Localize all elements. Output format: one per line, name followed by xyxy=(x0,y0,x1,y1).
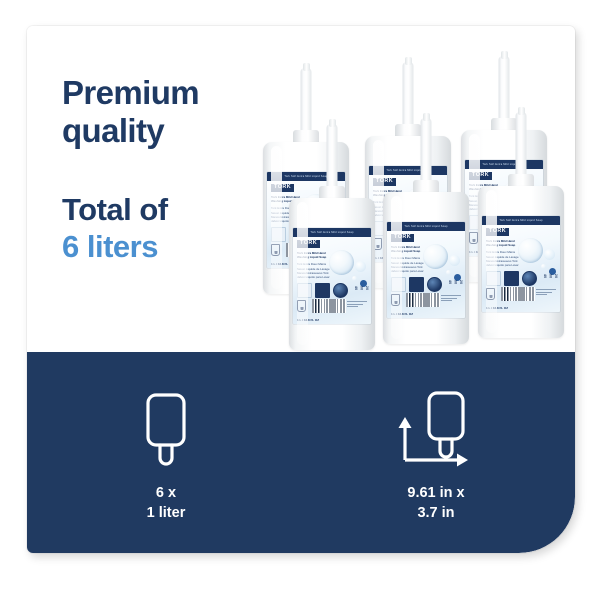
total-of-label: Total of xyxy=(62,192,168,227)
bottle-nozzle-icon xyxy=(499,56,510,122)
label-fineprint xyxy=(441,295,461,303)
size-code-column: 40 60 20 xyxy=(543,274,558,278)
label-header-band: Tork Soft Extra Mild Liquid Soap xyxy=(465,160,543,169)
label-volume: 1 L / 33.8 FL OZ xyxy=(391,312,413,316)
tork-logo: TORK xyxy=(486,228,509,236)
size-code-column: 40 60 20 xyxy=(448,280,463,284)
size-code: 20 xyxy=(365,286,369,290)
soap-bubble-icon xyxy=(329,250,354,275)
tork-logo: TORK xyxy=(297,240,320,248)
headline-line-1: Premium xyxy=(62,74,199,111)
label-fineprint xyxy=(347,301,367,309)
label-header-band: Tork Soft Extra Mild Liquid Soap xyxy=(369,166,447,175)
bottle-nozzle-icon xyxy=(403,62,414,128)
size-code: 40 xyxy=(354,286,358,290)
label-desc-line-4: Jabon Liquido para Lavar xyxy=(391,269,431,273)
label-volume: 1 L / 33.8 FL OZ xyxy=(486,306,508,310)
soap-droplet-icon xyxy=(352,276,357,281)
size-code: 60 xyxy=(454,280,458,284)
spec-quantity-label: 6 x 1 liter xyxy=(147,484,186,523)
size-code: 60 xyxy=(549,274,553,278)
spec-dimensions-line-1: 9.61 in x xyxy=(407,484,464,504)
size-code: 60 xyxy=(360,286,364,290)
tork-logo: TORK xyxy=(391,234,414,242)
bottle-body: Tork Soft Extra Mild Liquid Soap TORK To… xyxy=(383,192,469,344)
dispenser-icon xyxy=(297,300,306,312)
label-band-text: Tork Soft Extra Mild Liquid Soap xyxy=(499,219,542,222)
bottle-nozzle-icon xyxy=(327,124,338,190)
bottle-nozzle-icon xyxy=(516,112,527,178)
product-label: Tork Soft Extra Mild Liquid Soap TORK To… xyxy=(387,222,465,318)
total-volume-heading: Total of 6 liters xyxy=(62,191,277,265)
size-code: 20 xyxy=(554,274,558,278)
label-footer: 1 L / 33.8 FL OZ xyxy=(482,284,560,312)
card-top-section: Premium quality Total of 6 liters xyxy=(27,26,575,352)
spec-dimensions: 9.61 in x 3.7 in xyxy=(361,388,511,553)
label-footer: 1 L / 33.8 FL OZ xyxy=(387,290,465,318)
soap-bubble-icon xyxy=(518,238,543,263)
infographic-canvas: Premium quality Total of 6 liters xyxy=(0,0,600,600)
soap-bubble-icon xyxy=(423,244,448,269)
headline-block: Premium quality Total of 6 liters xyxy=(62,74,277,265)
label-band-text: Tork Soft Extra Mild Liquid Soap xyxy=(310,231,353,234)
total-liters-value: 6 liters xyxy=(62,228,277,265)
spec-quantity-art xyxy=(139,388,193,470)
size-code: 20 xyxy=(459,280,463,284)
tork-logo: TORK xyxy=(271,184,294,192)
bottle-nozzle-icon xyxy=(421,118,432,184)
product-label: Tork Soft Extra Mild Liquid Soap TORK To… xyxy=(482,216,560,312)
label-desc-line-4: Jabon Liquido para Lavar xyxy=(297,275,337,279)
label-header-band: Tork Soft Extra Mild Liquid Soap xyxy=(293,228,371,237)
soap-bubble-small-icon xyxy=(449,255,460,266)
bottle-body: Tork Soft Extra Mild Liquid Soap TORK To… xyxy=(478,186,564,338)
label-volume: 1 L / 33.8 FL OZ xyxy=(297,318,319,322)
barcode xyxy=(406,293,440,307)
dispenser-icon xyxy=(391,294,400,306)
tork-logo: TORK xyxy=(373,178,396,186)
label-band-text: Tork Soft Extra Mild Liquid Soap xyxy=(284,175,327,178)
spec-dimensions-label: 9.61 in x 3.7 in xyxy=(407,484,464,523)
size-code-column: 40 60 20 xyxy=(354,286,369,290)
label-header-band: Tork Soft Extra Mild Liquid Soap xyxy=(482,216,560,225)
label-desc-line-4: Jabon Liquido para Lavar xyxy=(486,263,526,267)
soap-bubble-small-icon xyxy=(355,261,366,272)
spec-quantity-line-2: 1 liter xyxy=(147,504,186,524)
bottle-nozzle-icon xyxy=(301,68,312,134)
tork-logo: TORK xyxy=(469,172,492,180)
bottle-icon xyxy=(139,392,193,470)
product-bottle-group: Tork Soft Extra Mild Liquid Soap TORK To… xyxy=(249,34,569,344)
product-label: Tork Soft Extra Mild Liquid Soap TORK To… xyxy=(293,228,371,324)
soap-droplet-icon xyxy=(541,264,546,269)
barcode xyxy=(312,299,346,313)
label-header-band: Tork Soft Extra Mild Liquid Soap xyxy=(387,222,465,231)
spec-dimensions-art xyxy=(393,388,479,470)
size-code: 40 xyxy=(448,280,452,284)
dispenser-icon xyxy=(271,244,280,256)
headline-line-2: quality xyxy=(62,112,164,149)
size-code: 40 xyxy=(543,274,547,278)
specs-row: 6 x 1 liter xyxy=(27,352,575,553)
product-info-card: Premium quality Total of 6 liters xyxy=(27,26,575,553)
soap-bubble-small-icon xyxy=(544,249,555,260)
spec-quantity-line-1: 6 x xyxy=(147,484,186,504)
barcode xyxy=(501,287,535,301)
spec-quantity: 6 x 1 liter xyxy=(91,388,241,553)
dispenser-icon xyxy=(486,288,495,300)
label-footer: 1 L / 33.8 FL OZ xyxy=(293,296,371,324)
bottle-body: Tork Soft Extra Mild Liquid Soap TORK To… xyxy=(289,198,375,350)
spec-dimensions-line-2: 3.7 in xyxy=(407,504,464,524)
label-band-text: Tork Soft Extra Mild Liquid Soap xyxy=(404,225,447,228)
soap-droplet-icon xyxy=(446,270,451,275)
label-fineprint xyxy=(536,289,556,297)
dispenser-icon xyxy=(469,232,478,244)
page-title: Premium quality xyxy=(62,74,277,151)
bottle-dimensions-icon xyxy=(393,390,479,470)
